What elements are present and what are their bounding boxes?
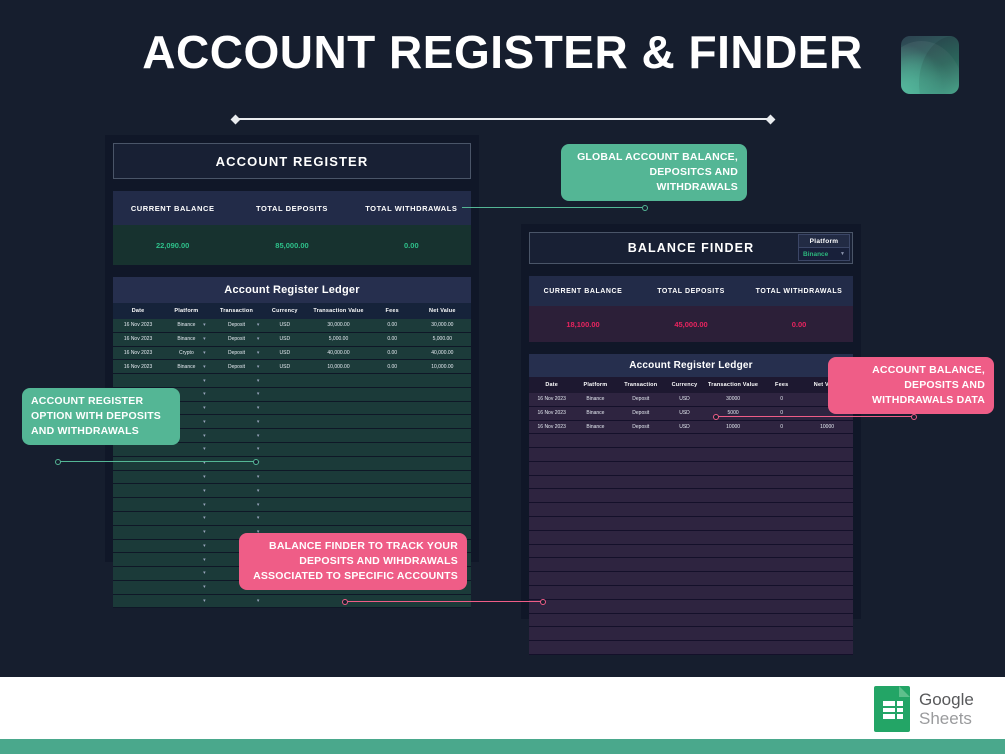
table-cell-empty [665,517,704,531]
left-summary-values: 22,090.00 85,000.00 0.00 [113,225,471,265]
divider-diamond-right [766,114,776,124]
table-cell-empty [263,511,306,525]
chevron-down-icon[interactable]: ▾ [203,405,206,411]
table-cell: USD [665,406,704,420]
table-cell: 0 [762,420,801,434]
table-cell-empty[interactable]: ▾ [163,511,210,525]
chevron-down-icon[interactable]: ▾ [203,529,206,535]
platform-filter-label: Platform [798,234,850,248]
account-register-header: ACCOUNT REGISTER [113,143,471,179]
table-cell-empty [762,461,801,475]
left-summary-header-deposits: TOTAL DEPOSITS [232,204,351,213]
table-cell-empty [762,613,801,627]
table-cell: 16 Nov 2023 [113,332,163,346]
table-cell-empty [529,613,574,627]
table-cell-empty[interactable]: ▾ [210,443,264,457]
table-cell: 0.00 [371,319,414,332]
table-cell-empty[interactable]: ▾ [163,498,210,512]
table-cell-empty[interactable] [574,489,616,503]
left-summary-header-withdrawals: TOTAL WITHDRAWALS [352,204,471,213]
table-cell-empty[interactable] [574,517,616,531]
table-cell-empty[interactable]: ▾ [163,470,210,484]
table-cell-empty [704,503,762,517]
table-cell-empty [414,511,471,525]
table-cell-empty [371,470,414,484]
table-cell-empty [263,429,306,443]
table-cell-empty [306,443,370,457]
table-cell: 30,000.00 [414,319,471,332]
table-cell-empty[interactable]: ▾ [210,401,264,415]
table-cell-empty[interactable] [574,475,616,489]
chevron-down-icon[interactable]: ▾ [203,391,206,397]
table-cell-empty[interactable]: ▾ [210,498,264,512]
table-cell-empty [529,448,574,462]
right-col-transaction-value: Transaction Value [704,377,762,393]
right-summary-value-deposits: 45,000.00 [637,320,745,329]
table-cell-empty[interactable]: ▾ [210,374,264,388]
table-row-empty [529,599,853,613]
table-cell-empty[interactable]: ▾ [210,484,264,498]
table-cell-empty [414,484,471,498]
table-cell-empty[interactable] [616,558,665,572]
table-cell[interactable]: Deposit▾ [210,360,264,374]
table-cell-empty [306,374,370,388]
table-cell-empty[interactable] [616,585,665,599]
table-cell: 5,000.00 [414,332,471,346]
table-cell: 10000 [704,420,762,434]
table-cell: 0.00 [371,346,414,360]
table-cell-empty [113,553,163,567]
table-cell-empty [371,443,414,457]
right-ledger-title: Account Register Ledger [529,354,853,377]
table-cell-empty [762,544,801,558]
table-cell-empty[interactable]: ▾ [163,553,210,567]
table-cell-empty[interactable] [616,489,665,503]
table-row-empty: ▾▾ [113,498,471,512]
table-cell-empty[interactable] [574,503,616,517]
sheet-grid-icon [881,701,903,719]
table-row-empty [529,572,853,586]
table-cell[interactable]: Crypto▾ [163,346,210,360]
table-cell-empty [371,387,414,401]
table-cell-empty [529,434,574,448]
table-cell-empty[interactable] [574,627,616,641]
table-cell-empty [801,489,853,503]
table-cell: 16 Nov 2023 [113,319,163,332]
chevron-down-icon[interactable]: ▾ [257,474,260,480]
table-cell-empty [113,567,163,581]
table-cell-empty[interactable]: ▾ [163,539,210,553]
chevron-down-icon[interactable]: ▾ [257,391,260,397]
chevron-down-icon[interactable]: ▾ [203,433,206,439]
chevron-down-icon[interactable]: ▾ [257,598,260,604]
table-cell-empty [529,627,574,641]
right-summary-header-withdrawals: TOTAL WITHDRAWALS [745,288,853,295]
table-cell-empty [801,599,853,613]
chevron-down-icon[interactable]: ▾ [203,322,206,328]
table-cell-empty [371,401,414,415]
table-cell-empty[interactable] [574,558,616,572]
table-cell-empty [665,613,704,627]
table-cell-empty [263,443,306,457]
table-cell-empty[interactable]: ▾ [163,594,210,608]
table-cell-empty[interactable] [574,585,616,599]
table-cell-empty[interactable] [616,448,665,462]
right-ledger: Account Register Ledger DatePlatformTran… [529,354,853,655]
table-cell: 10,000.00 [414,360,471,374]
table-cell-empty [371,484,414,498]
table-cell-empty [113,594,163,608]
table-cell-empty[interactable] [616,503,665,517]
table-row-empty [529,613,853,627]
table-cell-empty[interactable]: ▾ [210,594,264,608]
table-cell-empty [704,517,762,531]
table-row-empty [529,627,853,641]
table-cell-empty [306,498,370,512]
table-cell-empty[interactable]: ▾ [163,567,210,581]
table-cell[interactable]: Deposit [616,406,665,420]
table-cell-empty [529,503,574,517]
table-cell-empty[interactable]: ▾ [210,470,264,484]
brand-logo-icon [901,36,959,94]
table-cell-empty[interactable]: ▾ [163,525,210,539]
right-summary-values: 18,100.00 45,000.00 0.00 [529,306,853,342]
table-cell: USD [263,360,306,374]
table-cell-empty [665,641,704,655]
table-row: 16 Nov 2023Binance▾Deposit▾USD30,000.000… [113,319,471,332]
table-cell-empty [704,572,762,586]
chevron-down-icon[interactable]: ▾ [203,570,206,576]
table-cell-empty [665,489,704,503]
chevron-down-icon[interactable]: ▾ [203,557,206,563]
table-cell: 16 Nov 2023 [529,393,574,406]
left-col-transaction: Transaction [210,303,264,319]
table-cell-empty [113,525,163,539]
table-cell-empty [704,599,762,613]
table-cell-empty [414,429,471,443]
table-cell-empty[interactable] [616,599,665,613]
table-cell-empty[interactable] [574,572,616,586]
table-cell-empty [665,448,704,462]
table-row-empty: ▾▾ [113,456,471,470]
table-cell[interactable]: Binance▾ [163,360,210,374]
right-col-fees: Fees [762,377,801,393]
table-cell: 16 Nov 2023 [113,346,163,360]
table-cell-empty [801,517,853,531]
table-cell-empty [113,470,163,484]
table-cell-empty [371,429,414,443]
table-cell-empty[interactable]: ▾ [210,387,264,401]
account-register-title: ACCOUNT REGISTER [216,154,369,169]
account-register-panel: ACCOUNT REGISTER CURRENT BALANCE TOTAL D… [105,135,479,562]
chevron-down-icon[interactable]: ▾ [257,322,260,328]
chevron-down-icon[interactable]: ▾ [203,419,206,425]
table-row-empty [529,641,853,655]
table-cell-empty[interactable] [574,613,616,627]
table-cell-empty [704,461,762,475]
google-sheets-logo: Google Sheets [874,686,974,732]
table-cell: USD [263,346,306,360]
left-col-date: Date [113,303,163,319]
table-cell: 30,000.00 [306,319,370,332]
table-cell-empty [762,517,801,531]
table-cell-empty [414,401,471,415]
table-cell-empty [762,585,801,599]
table-cell-empty[interactable]: ▾ [163,484,210,498]
table-cell-empty[interactable]: ▾ [163,580,210,594]
chevron-down-icon[interactable]: ▾ [203,515,206,521]
table-cell-empty [529,475,574,489]
chevron-down-icon[interactable]: ▾ [257,515,260,521]
left-col-currency: Currency [263,303,306,319]
callout-account-data: ACCOUNT BALANCE, DEPOSITS AND WITHDRAWAL… [828,357,994,414]
table-cell-empty [801,475,853,489]
table-cell-empty[interactable] [616,544,665,558]
table-cell-empty[interactable] [616,434,665,448]
callout-global-balance: GLOBAL ACCOUNT BALANCE, DEPOSITCS AND WI… [561,144,747,201]
left-summary-value-balance: 22,090.00 [113,241,232,250]
table-cell[interactable]: Binance▾ [163,319,210,332]
footer-bar [0,677,1005,739]
table-cell-empty[interactable] [616,627,665,641]
table-cell-empty [704,641,762,655]
right-ledger-head: DatePlatformTransactionCurrencyTransacti… [529,377,853,393]
table-row-empty [529,448,853,462]
table-cell: 0.00 [371,360,414,374]
table-cell-empty [665,558,704,572]
table-cell-empty [665,461,704,475]
table-row-empty: ▾▾ [113,511,471,525]
table-cell-empty [263,470,306,484]
chevron-down-icon[interactable]: ▾ [203,336,206,342]
title-divider [232,115,774,123]
table-cell: 16 Nov 2023 [529,420,574,434]
left-summary-header-balance: CURRENT BALANCE [113,204,232,213]
table-cell-empty [263,594,306,608]
table-cell-empty [704,613,762,627]
table-cell-empty[interactable] [616,572,665,586]
chevron-down-icon[interactable]: ▾ [257,350,260,356]
table-row-empty: ▾▾ [113,470,471,484]
chevron-down-icon[interactable]: ▾ [203,598,206,604]
table-cell[interactable]: Binance [574,420,616,434]
table-cell: 10,000.00 [306,360,370,374]
slide-canvas: ACCOUNT REGISTER & FINDER ACCOUNT REGIST… [0,0,1005,754]
chevron-down-icon[interactable]: ▾ [257,419,260,425]
table-cell-empty [306,429,370,443]
table-cell-empty [801,530,853,544]
platform-filter[interactable]: Platform Binance ▼ [798,234,850,261]
left-summary-headers: CURRENT BALANCE TOTAL DEPOSITS TOTAL WIT… [113,191,471,225]
table-cell-empty [414,470,471,484]
page-title: ACCOUNT REGISTER & FINDER [0,26,1005,79]
table-cell-empty [704,627,762,641]
table-row-empty [529,530,853,544]
table-cell-empty [529,558,574,572]
chevron-down-icon[interactable]: ▾ [257,488,260,494]
table-cell-empty [704,434,762,448]
table-row: 16 Nov 2023Binance▾Deposit▾USD10,000.000… [113,360,471,374]
table-cell-empty[interactable] [574,641,616,655]
table-cell-empty[interactable]: ▾ [163,456,210,470]
table-cell-empty [113,539,163,553]
chevron-down-icon[interactable]: ▾ [203,350,206,356]
table-cell-empty [414,443,471,457]
table-cell[interactable]: Deposit [616,420,665,434]
right-col-date: Date [529,377,574,393]
left-summary-value-withdrawals: 0.00 [352,241,471,250]
table-cell-empty [704,448,762,462]
table-cell-empty[interactable]: ▾ [210,429,264,443]
table-cell-empty[interactable] [616,517,665,531]
chevron-down-icon[interactable]: ▾ [203,584,206,590]
table-cell-empty [762,434,801,448]
right-col-transaction: Transaction [616,377,665,393]
table-cell-empty [306,470,370,484]
table-cell-empty [371,415,414,429]
table-cell-empty [529,585,574,599]
table-cell-empty [762,558,801,572]
chevron-down-icon[interactable]: ▾ [203,474,206,480]
table-cell-empty[interactable] [616,475,665,489]
table-cell-empty [704,585,762,599]
page-fold-icon [899,686,910,697]
table-cell-empty[interactable] [616,530,665,544]
table-cell-empty[interactable] [574,530,616,544]
balance-finder-title: BALANCE FINDER [628,241,755,255]
table-cell-empty [801,434,853,448]
table-cell-empty [762,572,801,586]
table-cell-empty [665,544,704,558]
table-cell-empty [113,498,163,512]
table-cell-empty [801,641,853,655]
right-ledger-table: DatePlatformTransactionCurrencyTransacti… [529,377,853,655]
table-row: 16 Nov 2023BinanceDepositUSD300000 [529,393,853,406]
table-cell[interactable]: Deposit▾ [210,332,264,346]
right-col-currency: Currency [665,377,704,393]
right-ledger-header-row: DatePlatformTransactionCurrencyTransacti… [529,377,853,393]
table-cell-empty[interactable] [574,461,616,475]
table-cell: 16 Nov 2023 [529,406,574,420]
table-cell: 30000 [704,393,762,406]
table-row: 16 Nov 2023BinanceDepositUSD50000 [529,406,853,420]
table-cell[interactable]: Binance▾ [163,332,210,346]
table-cell-empty [801,461,853,475]
table-cell: USD [665,393,704,406]
table-cell-empty [263,401,306,415]
table-row-empty [529,489,853,503]
table-cell: USD [263,332,306,346]
chevron-down-icon[interactable]: ▾ [257,405,260,411]
table-cell-empty[interactable] [574,599,616,613]
table-cell[interactable]: Deposit▾ [210,346,264,360]
table-cell-empty[interactable]: ▾ [210,415,264,429]
chevron-down-icon[interactable]: ▾ [257,433,260,439]
table-cell-empty [704,475,762,489]
table-cell: 0 [762,406,801,420]
chevron-down-icon[interactable]: ▾ [257,378,260,384]
table-cell[interactable]: Deposit▾ [210,319,264,332]
table-row-empty: ▾▾ [113,484,471,498]
balance-finder-header: BALANCE FINDER Platform Binance ▼ [529,232,853,264]
table-cell: 40,000.00 [306,346,370,360]
left-col-net-value: Net Value [414,303,471,319]
table-cell-empty [263,456,306,470]
table-cell-empty[interactable]: ▾ [210,511,264,525]
platform-filter-select[interactable]: Binance ▼ [798,248,850,261]
table-cell-empty [762,503,801,517]
table-cell[interactable]: Binance [574,406,616,420]
table-cell-empty [801,448,853,462]
right-summary-header-balance: CURRENT BALANCE [529,288,637,295]
table-cell-empty [801,572,853,586]
table-cell-empty [306,484,370,498]
table-cell-empty [306,415,370,429]
table-cell-empty[interactable] [616,613,665,627]
table-cell-empty [414,498,471,512]
chevron-down-icon[interactable]: ▾ [203,364,206,370]
left-ledger-title: Account Register Ledger [113,277,471,303]
table-cell-empty[interactable] [574,434,616,448]
table-cell-empty [113,456,163,470]
table-cell-empty [665,503,704,517]
chevron-down-icon[interactable]: ▾ [203,543,206,549]
chevron-down-icon[interactable]: ▾ [203,446,206,452]
table-cell-empty [371,498,414,512]
table-cell-empty [762,448,801,462]
table-cell[interactable]: Binance [574,393,616,406]
table-cell-empty [704,558,762,572]
table-cell-empty [762,530,801,544]
chevron-down-icon[interactable]: ▾ [257,364,260,370]
table-cell: 0 [762,393,801,406]
table-cell-empty [801,558,853,572]
divider-line [236,118,770,119]
table-cell: USD [263,319,306,332]
table-cell-empty[interactable] [574,544,616,558]
table-cell-empty [665,475,704,489]
table-cell-empty[interactable] [574,448,616,462]
table-cell-empty[interactable] [616,641,665,655]
chevron-down-icon[interactable]: ▾ [257,336,260,342]
table-cell-empty [704,530,762,544]
brand-sheets: Sheets [919,709,974,728]
table-cell[interactable]: Deposit [616,393,665,406]
table-cell-empty [414,415,471,429]
table-cell-empty[interactable]: ▾ [163,374,210,388]
table-cell-empty[interactable] [616,461,665,475]
table-cell-empty [113,484,163,498]
table-cell-empty [113,580,163,594]
chevron-down-icon[interactable]: ▾ [203,502,206,508]
table-cell-empty [529,461,574,475]
table-cell-empty [665,599,704,613]
table-cell-empty [371,456,414,470]
table-cell-empty [704,544,762,558]
brand-google: Google [919,690,974,709]
left-summary: CURRENT BALANCE TOTAL DEPOSITS TOTAL WIT… [113,191,471,265]
table-cell-empty [414,374,471,388]
right-summary: CURRENT BALANCE TOTAL DEPOSITS TOTAL WIT… [529,276,853,342]
chevron-down-icon[interactable]: ▾ [203,378,206,384]
chevron-down-icon[interactable]: ▾ [257,502,260,508]
chevron-down-icon[interactable]: ▾ [203,488,206,494]
left-ledger-header-row: DatePlatformTransactionCurrencyTransacti… [113,303,471,319]
right-summary-header-deposits: TOTAL DEPOSITS [637,288,745,295]
left-col-fees: Fees [371,303,414,319]
chevron-down-icon[interactable]: ▾ [257,446,260,452]
table-cell-empty [306,456,370,470]
